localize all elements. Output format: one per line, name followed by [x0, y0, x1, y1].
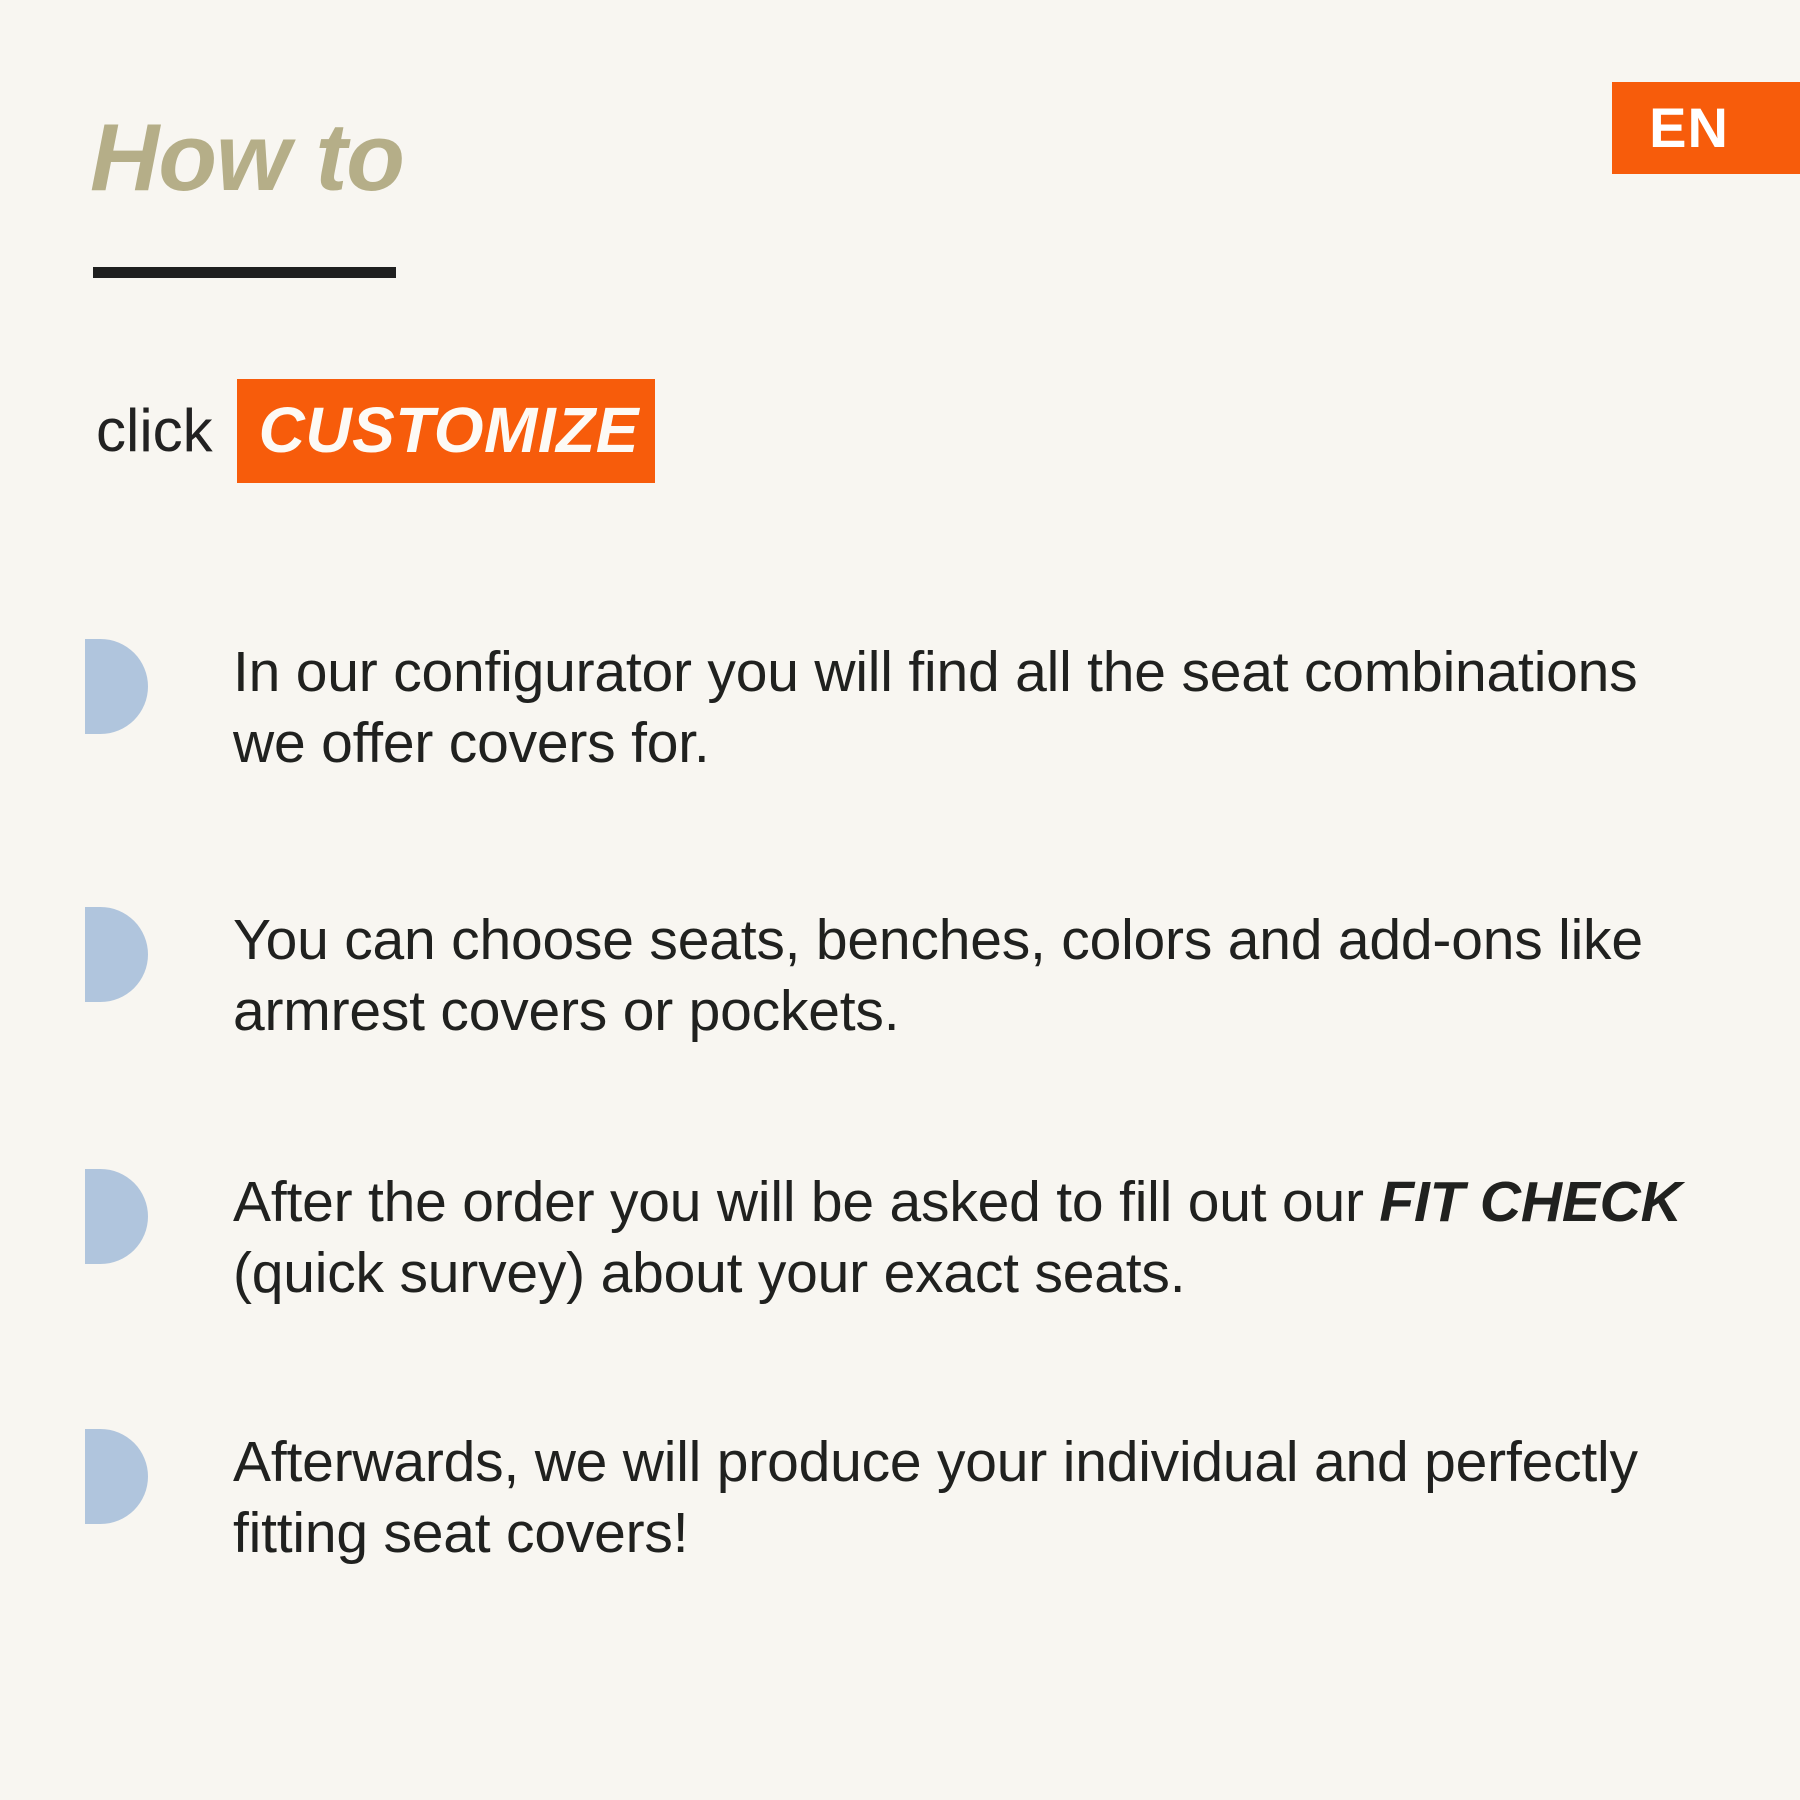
- instruction-card: EN How to click CUSTOMIZE In our configu…: [0, 0, 1800, 1800]
- bullet-marker-icon: [85, 1169, 148, 1264]
- bullet-marker-icon: [85, 1429, 148, 1524]
- cta-prefix-label: click: [96, 401, 213, 461]
- step-text-after: (quick survey) about your exact seats.: [233, 1241, 1185, 1305]
- list-item: In our configurator you will find all th…: [85, 637, 1725, 780]
- fit-check-emphasis: FIT CHECK: [1379, 1170, 1681, 1234]
- step-text: After the order you will be asked to fil…: [233, 1167, 1725, 1310]
- cta-instruction-line: click CUSTOMIZE: [96, 383, 655, 479]
- bullet-marker-icon: [85, 639, 148, 734]
- step-text: In our configurator you will find all th…: [233, 637, 1725, 780]
- bullet-marker-icon: [85, 907, 148, 1002]
- list-item: After the order you will be asked to fil…: [85, 1167, 1725, 1310]
- page-title: How to: [90, 108, 404, 209]
- language-badge-label: EN: [1649, 100, 1729, 156]
- customize-button[interactable]: CUSTOMIZE: [237, 379, 655, 483]
- step-text-before: After the order you will be asked to fil…: [233, 1170, 1379, 1234]
- list-item: Afterwards, we will produce your individ…: [85, 1427, 1725, 1570]
- step-text: You can choose seats, benches, colors an…: [233, 905, 1725, 1048]
- list-item: You can choose seats, benches, colors an…: [85, 905, 1725, 1048]
- language-badge[interactable]: EN: [1612, 82, 1800, 174]
- title-underline-rule: [93, 267, 396, 278]
- step-text: Afterwards, we will produce your individ…: [233, 1427, 1725, 1570]
